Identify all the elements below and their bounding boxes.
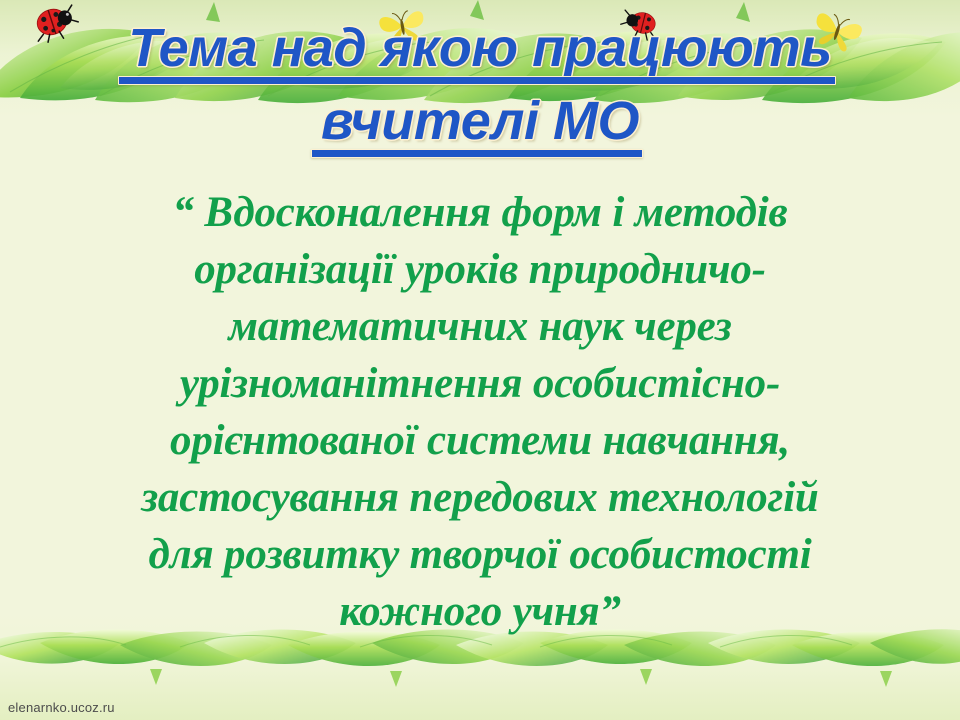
slide-title: Тема над якою працюють вчителі МО [0,18,960,156]
title-line-1-text: Тема над якою працюють [128,18,831,83]
title-line-2-text: вчителі МО [321,91,639,156]
quote-line: “ Вдосконалення форм і методів [0,184,960,241]
quote-line: математичних наук через [0,298,960,355]
quote-line: орієнтованої системи навчання, [0,412,960,469]
quote-line: для розвитку творчої особистості [0,526,960,583]
quote-line: кожного учня” [0,583,960,640]
watermark-text: elenarnko.ucoz.ru [8,700,115,715]
quote-line: застосування передових технологій [0,469,960,526]
title-line-2: вчителі МО [0,91,960,156]
quote-line: урізноманітнення особистісно- [0,355,960,412]
quote-line: організації уроків природничо- [0,241,960,298]
title-line-1: Тема над якою працюють [0,18,960,83]
slide-canvas: Тема над якою працюють вчителі МО “ Вдос… [0,0,960,720]
quote-text-block: “ Вдосконалення форм і методів організац… [0,184,960,640]
